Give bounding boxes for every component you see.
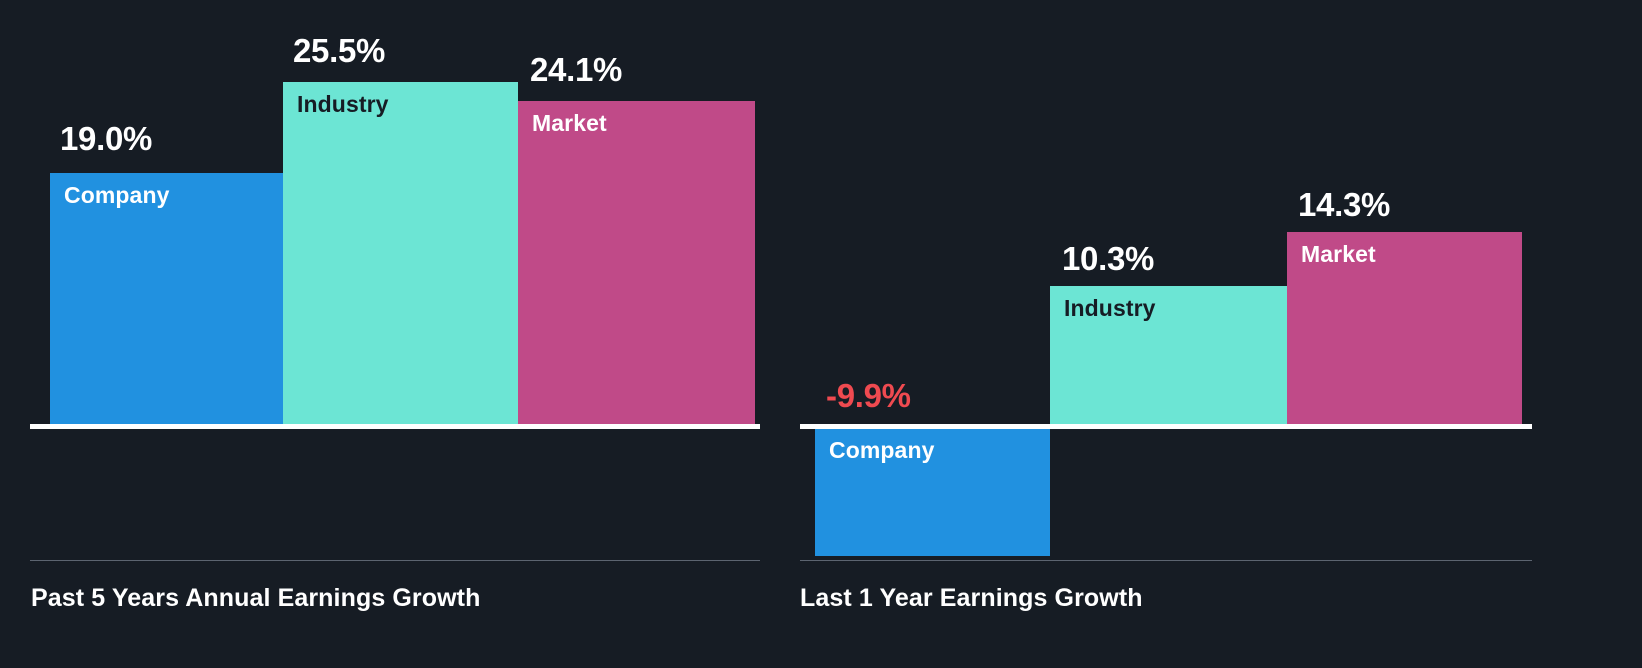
bar-series-label-market-last1: Market xyxy=(1301,241,1376,268)
value-label-market-past5: 24.1% xyxy=(530,51,622,89)
bar-company-past5[interactable]: Company xyxy=(50,173,283,424)
bar-market-last1[interactable]: Market xyxy=(1287,232,1522,424)
chart-title-past-5-years: Past 5 Years Annual Earnings Growth xyxy=(31,584,480,613)
value-label-industry-past5: 25.5% xyxy=(293,32,385,70)
plot-area-past-5-years: 19.0% Company 25.5% Industry 24.1% Marke… xyxy=(0,0,790,560)
chart-panel-last-1-year: -9.9% Company 10.3% Industry 14.3% Marke… xyxy=(790,0,1642,668)
bar-series-label-company-past5: Company xyxy=(64,182,170,209)
bar-series-label-company-last1: Company xyxy=(829,437,935,464)
footer-divider-past5 xyxy=(30,560,760,561)
value-label-company-last1: -9.9% xyxy=(826,377,911,415)
bar-market-past5[interactable]: Market xyxy=(518,101,755,424)
bar-industry-last1[interactable]: Industry xyxy=(1050,286,1287,424)
chart-panel-past-5-years: 19.0% Company 25.5% Industry 24.1% Marke… xyxy=(0,0,790,668)
value-label-industry-last1: 10.3% xyxy=(1062,240,1154,278)
plot-area-last-1-year: -9.9% Company 10.3% Industry 14.3% Marke… xyxy=(790,0,1642,560)
bar-series-label-market-past5: Market xyxy=(532,110,607,137)
zero-baseline-last1 xyxy=(800,424,1532,429)
bar-company-last1[interactable]: Company xyxy=(815,428,1050,556)
bar-industry-past5[interactable]: Industry xyxy=(283,82,518,424)
footer-divider-last1 xyxy=(800,560,1532,561)
earnings-growth-comparison: 19.0% Company 25.5% Industry 24.1% Marke… xyxy=(0,0,1642,668)
bar-series-label-industry-last1: Industry xyxy=(1064,295,1156,322)
value-label-company-past5: 19.0% xyxy=(60,120,152,158)
zero-baseline-past5 xyxy=(30,424,760,429)
chart-title-last-1-year: Last 1 Year Earnings Growth xyxy=(800,584,1143,613)
bar-series-label-industry-past5: Industry xyxy=(297,91,389,118)
value-label-market-last1: 14.3% xyxy=(1298,186,1390,224)
